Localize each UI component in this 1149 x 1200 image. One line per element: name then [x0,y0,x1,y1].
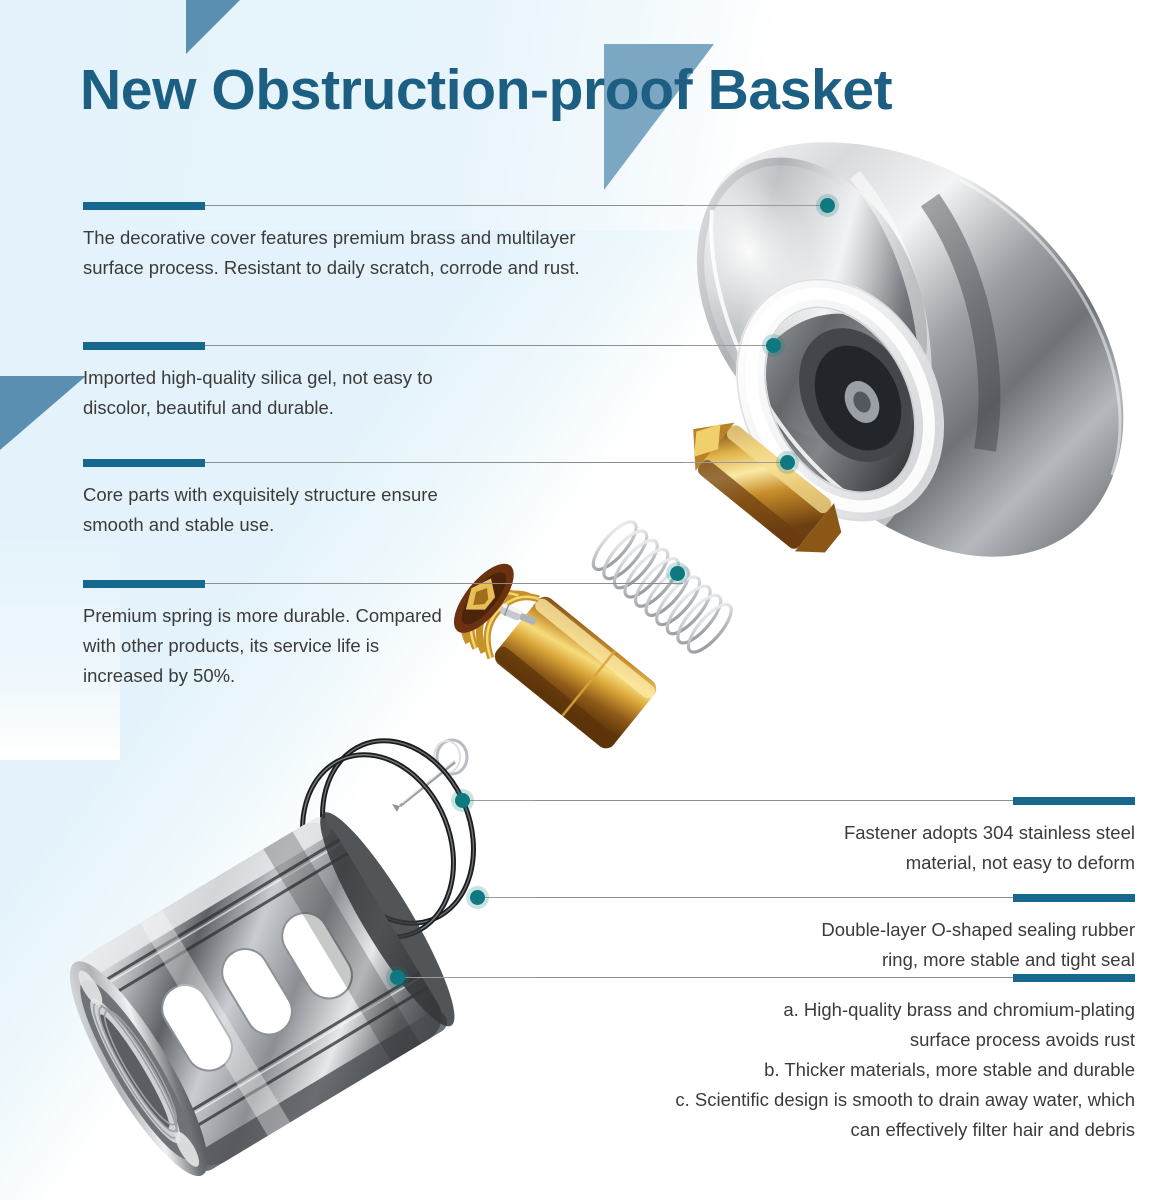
callout-text: Imported high-quality silica gel, not ea… [83,363,683,423]
page-title: New Obstruction-proof Basket [80,55,892,125]
callout-text: Double-layer O-shaped sealing rubber rin… [535,915,1135,975]
callout-line-2: material, not easy to deform [535,848,1135,878]
infographic-page: New Obstruction-proof Basket The decorat… [0,0,1149,1200]
callout-line-2: discolor, beautiful and durable. [83,393,683,423]
leader-dot-fastener [455,793,470,808]
triangle-decor-top-left [186,0,240,54]
callout-accent-bar [83,202,205,210]
callout-accent-bar [83,580,205,588]
callout-text: The decorative cover features premium br… [83,223,683,283]
callout-text: Core parts with exquisitely structure en… [83,480,683,540]
callout-accent-bar [1013,974,1135,982]
leader-dot-basket-body [390,970,405,985]
callout-line-1: Imported high-quality silica gel, not ea… [83,363,683,393]
callout-text: Fastener adopts 304 stainless steel mate… [535,818,1135,878]
leader-dot-silica-gel [766,338,781,353]
callout-line-3: increased by 50%. [83,661,513,691]
leader-dot-decorative-cover [820,198,835,213]
callout-accent-bar [1013,797,1135,805]
callout-line-1: Core parts with exquisitely structure en… [83,480,683,510]
callout-text: a. High-quality brass and chromium-plati… [535,995,1135,1145]
leader-dot-sealing-ring [470,890,485,905]
callout-line-3: b. Thicker materials, more stable and du… [535,1055,1135,1085]
callout-text: Premium spring is more durable. Compared… [83,601,513,691]
callout-accent-bar [83,459,205,467]
callout-line-2: surface process avoids rust [535,1025,1135,1055]
callout-line-4: c. Scientific design is smooth to drain … [535,1085,1135,1115]
callout-line-2: with other products, its service life is [83,631,513,661]
callout-line-1: Double-layer O-shaped sealing rubber [535,915,1135,945]
callout-accent-bar [83,342,205,350]
callout-line-5: can effectively filter hair and debris [535,1115,1135,1145]
callout-line-1: a. High-quality brass and chromium-plati… [535,995,1135,1025]
leader-dot-core-parts [780,455,795,470]
callout-line-2: smooth and stable use. [83,510,683,540]
callout-line-2: surface process. Resistant to daily scra… [83,253,683,283]
leader-dot-premium-spring [670,566,685,581]
callout-line-1: Premium spring is more durable. Compared [83,601,513,631]
callout-line-1: Fastener adopts 304 stainless steel [535,818,1135,848]
callout-line-1: The decorative cover features premium br… [83,223,683,253]
callout-line-2: ring, more stable and tight seal [535,945,1135,975]
callout-accent-bar [1013,894,1135,902]
